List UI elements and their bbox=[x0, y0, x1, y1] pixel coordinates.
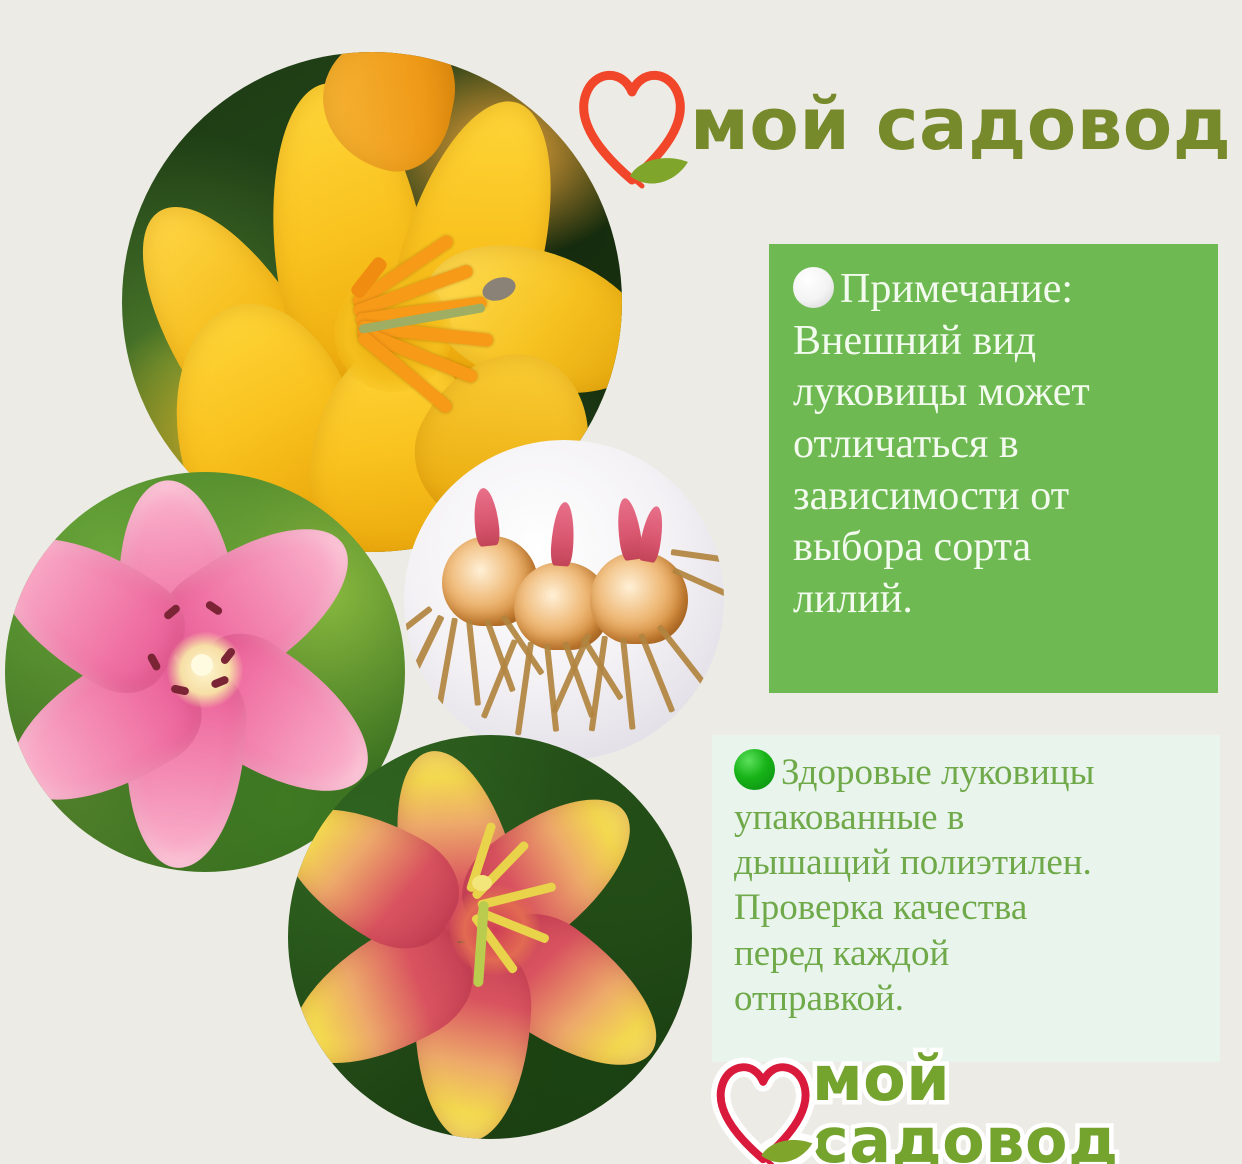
note-box-green: Примечание: Внешний вид луковицы может о… bbox=[769, 244, 1218, 693]
note-green-line-6: лилий. bbox=[793, 576, 913, 622]
note-green-line-5: выбора сорта bbox=[793, 524, 1031, 570]
note-light-line-3: Проверка качества bbox=[734, 887, 1027, 928]
brand-wordmark-bottom: мой садовод bbox=[812, 1048, 1242, 1164]
note-light-line-0: Здоровые луковицы bbox=[781, 752, 1094, 793]
note-green-line-4: зависимости от bbox=[793, 473, 1069, 519]
brand-logo-top: мой садовод bbox=[572, 58, 1231, 190]
white-circle-bullet-icon bbox=[793, 267, 834, 308]
poster-canvas: мой садовод Примечание: Внешний вид луко… bbox=[0, 0, 1242, 1164]
note-green-line-2: луковицы может bbox=[793, 369, 1090, 415]
note-green-line-3: отличаться в bbox=[793, 421, 1019, 467]
note-light-line-1: упакованные в bbox=[734, 797, 964, 838]
note-light-line-5: отправкой. bbox=[734, 978, 904, 1019]
brand-logo-bottom: мой садовод bbox=[710, 1048, 1242, 1164]
note-green-line-0: Примечание: bbox=[840, 266, 1073, 312]
note-light-line-4: перед каждой bbox=[734, 933, 949, 974]
heart-leaf-icon-bottom bbox=[710, 1052, 818, 1164]
note-box-light: Здоровые луковицы упакованные в дышащий … bbox=[712, 735, 1220, 1062]
note-light-line-2: дышащий полиэтилен. bbox=[734, 842, 1092, 883]
photo-red-yellow-lily bbox=[288, 735, 692, 1139]
brand-wordmark-top: мой садовод bbox=[690, 88, 1231, 160]
note-light-text: Здоровые луковицы упакованные в дышащий … bbox=[734, 749, 1210, 1021]
green-circle-bullet-icon bbox=[734, 749, 775, 790]
photo-lily-bulbs bbox=[404, 440, 724, 760]
note-green-line-1: Внешний вид bbox=[793, 318, 1036, 364]
heart-leaf-icon bbox=[572, 58, 694, 190]
note-green-text: Примечание: Внешний вид луковицы может о… bbox=[793, 264, 1202, 626]
